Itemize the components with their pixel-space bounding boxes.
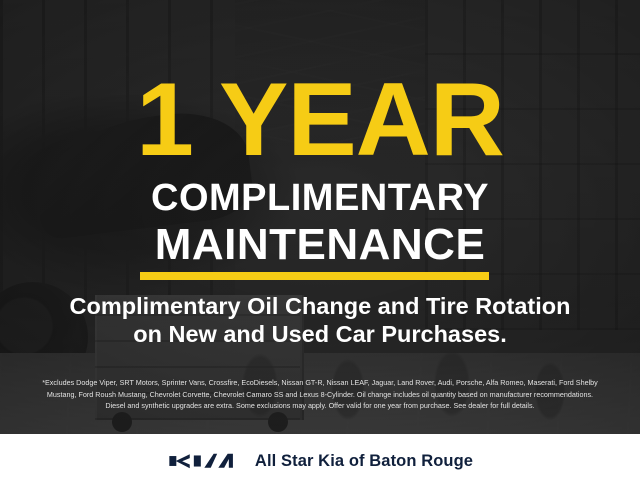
dealer-name-label: All Star Kia of Baton Rouge xyxy=(255,452,473,471)
headline-secondary-line-1: COMPLIMENTARY xyxy=(0,178,640,218)
disclaimer-text: *Excludes Dodge Viper, SRT Motors, Sprin… xyxy=(14,377,626,412)
yellow-divider-rule xyxy=(140,272,489,280)
offer-description-line-2: on New and Used Car Purchases. xyxy=(30,320,610,348)
headline-secondary-line-2: MAINTENANCE xyxy=(0,222,640,268)
offer-description-line-1: Complimentary Oil Change and Tire Rotati… xyxy=(30,292,610,320)
headline-primary: 1 YEAR xyxy=(0,68,640,172)
promo-banner: 1 YEAR COMPLIMENTARY MAINTENANCE Complim… xyxy=(0,0,640,488)
dealer-footer-bar: All Star Kia of Baton Rouge xyxy=(0,434,640,488)
offer-description: Complimentary Oil Change and Tire Rotati… xyxy=(30,292,610,348)
disclaimer-line-3: Diesel and synthetic upgrades are extra.… xyxy=(14,400,626,412)
disclaimer-line-2: Mustang, Ford Roush Mustang, Chevrolet C… xyxy=(14,389,626,401)
promo-content: 1 YEAR COMPLIMENTARY MAINTENANCE Complim… xyxy=(0,0,640,488)
kia-logo-icon xyxy=(167,451,237,471)
disclaimer-line-1: *Excludes Dodge Viper, SRT Motors, Sprin… xyxy=(14,377,626,389)
